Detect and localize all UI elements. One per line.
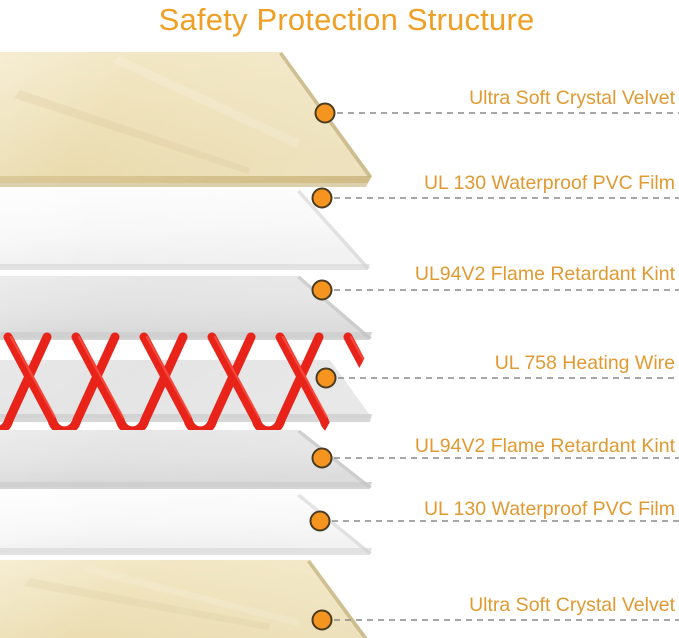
- layer-label-velvet-top: Ultra Soft Crystal Velvet: [469, 86, 675, 110]
- connector-dot[interactable]: [313, 611, 332, 630]
- layer-label-pvc-bottom: UL 130 Waterproof PVC Film: [424, 497, 675, 521]
- infographic-canvas: Safety Protection Structure: [0, 0, 679, 638]
- layer-heating-wire: [0, 337, 455, 431]
- layer-label-velvet-bottom: Ultra Soft Crystal Velvet: [469, 593, 675, 617]
- connector-dot[interactable]: [317, 369, 336, 388]
- connector-dot[interactable]: [313, 281, 332, 300]
- layer-velvet-top: [0, 52, 372, 187]
- layer-label-heating-wire: UL 758 Heating Wire: [495, 351, 675, 375]
- layer-label-pvc-top: UL 130 Waterproof PVC Film: [424, 171, 675, 195]
- connector-dot[interactable]: [313, 449, 332, 468]
- connector-dot[interactable]: [311, 512, 330, 531]
- connector-dot[interactable]: [316, 104, 335, 123]
- connector-dot[interactable]: [313, 189, 332, 208]
- layer-label-knit-bottom: UL94V2 Flame Retardant Kint: [415, 434, 675, 458]
- layer-label-knit-top: UL94V2 Flame Retardant Kint: [415, 262, 675, 286]
